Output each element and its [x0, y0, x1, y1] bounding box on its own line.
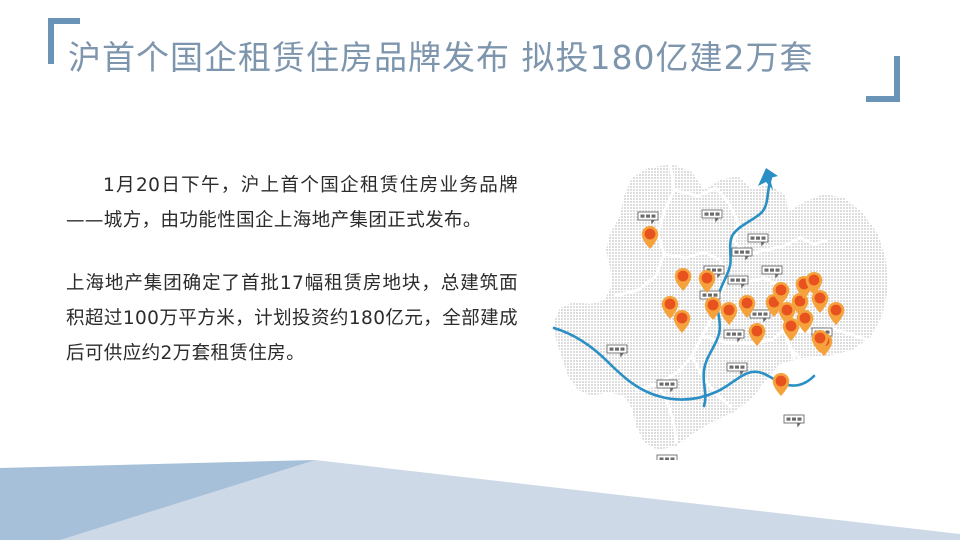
- bracket-right-icon: [866, 56, 900, 102]
- shanghai-map-figure: [552, 150, 922, 460]
- decor-triangle-light: [60, 460, 960, 540]
- title-band: 沪首个国企租赁住房品牌发布 拟投180亿建2万套: [0, 0, 960, 120]
- article-body: 1月20日下午，沪上首个国企租赁住房业务品牌——城方，由功能性国企上海地产集团正…: [66, 168, 518, 399]
- map-pin[interactable]: [773, 373, 790, 396]
- paragraph-2: 上海地产集团确定了首批17幅租赁房地块，总建筑面积超过100万平方米，计划投资约…: [66, 266, 518, 371]
- map-label-tag: [784, 415, 804, 428]
- map-label-tag: [657, 455, 677, 460]
- page-title: 沪首个国企租赁住房品牌发布 拟投180亿建2万套: [68, 36, 813, 80]
- paragraph-1: 1月20日下午，沪上首个国企租赁住房业务品牌——城方，由功能性国企上海地产集团正…: [66, 168, 518, 238]
- decor-triangle-dark: [0, 460, 315, 540]
